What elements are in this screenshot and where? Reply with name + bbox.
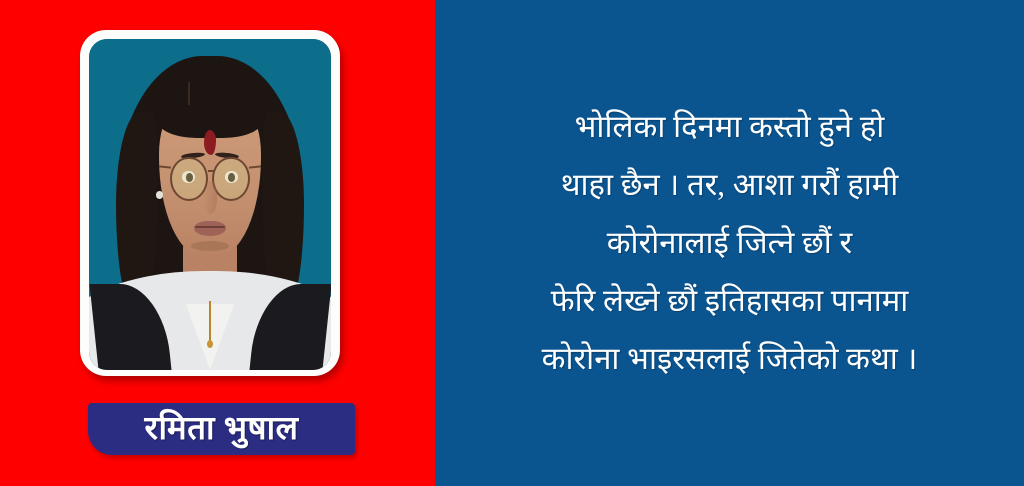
left-red-panel: रमिता भुषाल [0, 0, 435, 486]
portrait-photo [89, 39, 331, 370]
quote-poster: रमिता भुषाल भोलिका दिनमा कस्तो हुने हो थ… [0, 0, 1024, 486]
lens-left [170, 157, 208, 202]
quote-text-block: भोलिका दिनमा कस्तो हुने हो थाहा छैन । तर… [449, 98, 1010, 388]
right-blue-panel: भोलिका दिनमा कस्तो हुने हो थाहा छैन । तर… [435, 0, 1024, 486]
quote-line-1: भोलिका दिनमा कस्तो हुने हो [449, 98, 1010, 156]
portrait-photo-frame [80, 30, 340, 376]
quote-line-4: फेरि लेख्ने छौं इतिहासका पानामा [449, 272, 1010, 330]
portrait-illustration [89, 39, 331, 370]
quote-line-5: कोरोना भाइरसलाई जितेको कथा । [449, 330, 1010, 388]
glasses-bridge [208, 170, 216, 172]
glasses-temple-left [159, 166, 171, 169]
author-name: रमिता भुषाल [144, 413, 298, 446]
nose [203, 181, 218, 214]
lip-line [195, 226, 224, 227]
lens-right [212, 157, 250, 202]
quote-line-3: कोरोनालाई जित्ने छौं र [449, 214, 1010, 272]
quote-line-2: थाहा छैन । तर, आशा गरौं हामी [449, 156, 1010, 214]
name-badge: रमिता भुषाल [88, 403, 355, 455]
glasses-temple-right [249, 166, 261, 169]
chin-shadow [191, 241, 230, 251]
